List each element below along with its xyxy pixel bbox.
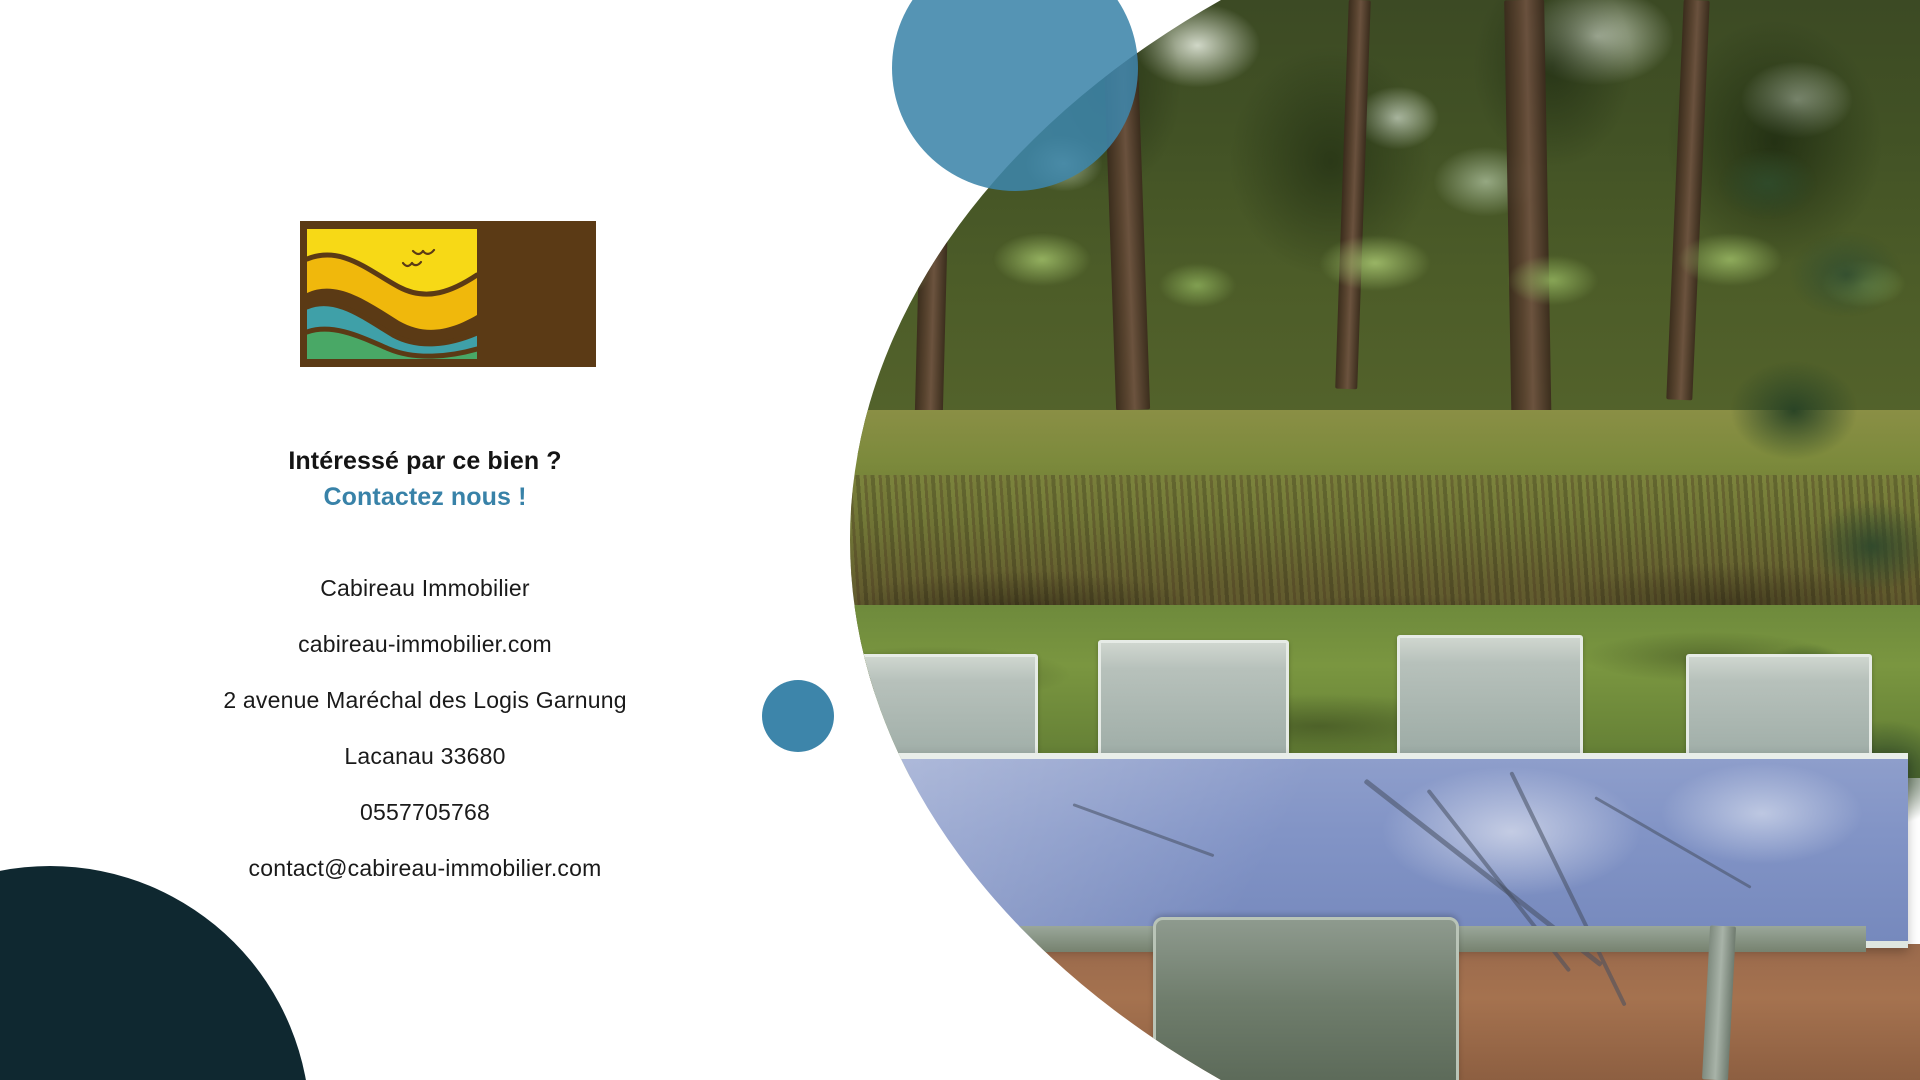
contact-company: Cabireau Immobilier [0,560,850,616]
foreground-chair [1153,917,1459,1080]
contact-panel: Intéressé par ce bien ? Contactez nous !… [0,0,850,1080]
cabireau-immobilier-logo [300,221,596,367]
contact-city-postcode: Lacanau 33680 [0,728,850,784]
branch-reflection [1594,796,1751,889]
contact-street: 2 avenue Maréchal des Logis Garnung [0,672,850,728]
contact-email[interactable]: contact@cabireau-immobilier.com [0,840,850,896]
logo-landscape-art [307,229,477,359]
slide-canvas: Intéressé par ce bien ? Contactez nous !… [0,0,1920,1080]
garden-chair [1397,635,1583,766]
contact-website[interactable]: cabireau-immobilier.com [0,616,850,672]
contact-details-list: Cabireau Immobilier cabireau-immobilier.… [0,560,850,896]
table-leg [962,925,996,1080]
branch-reflection [1073,803,1215,857]
patio-furniture [850,626,1920,1080]
page-title: Intéressé par ce bien ? [0,447,850,476]
call-to-action-text: Contactez nous ! [0,483,850,512]
contact-phone[interactable]: 0557705768 [0,784,850,840]
